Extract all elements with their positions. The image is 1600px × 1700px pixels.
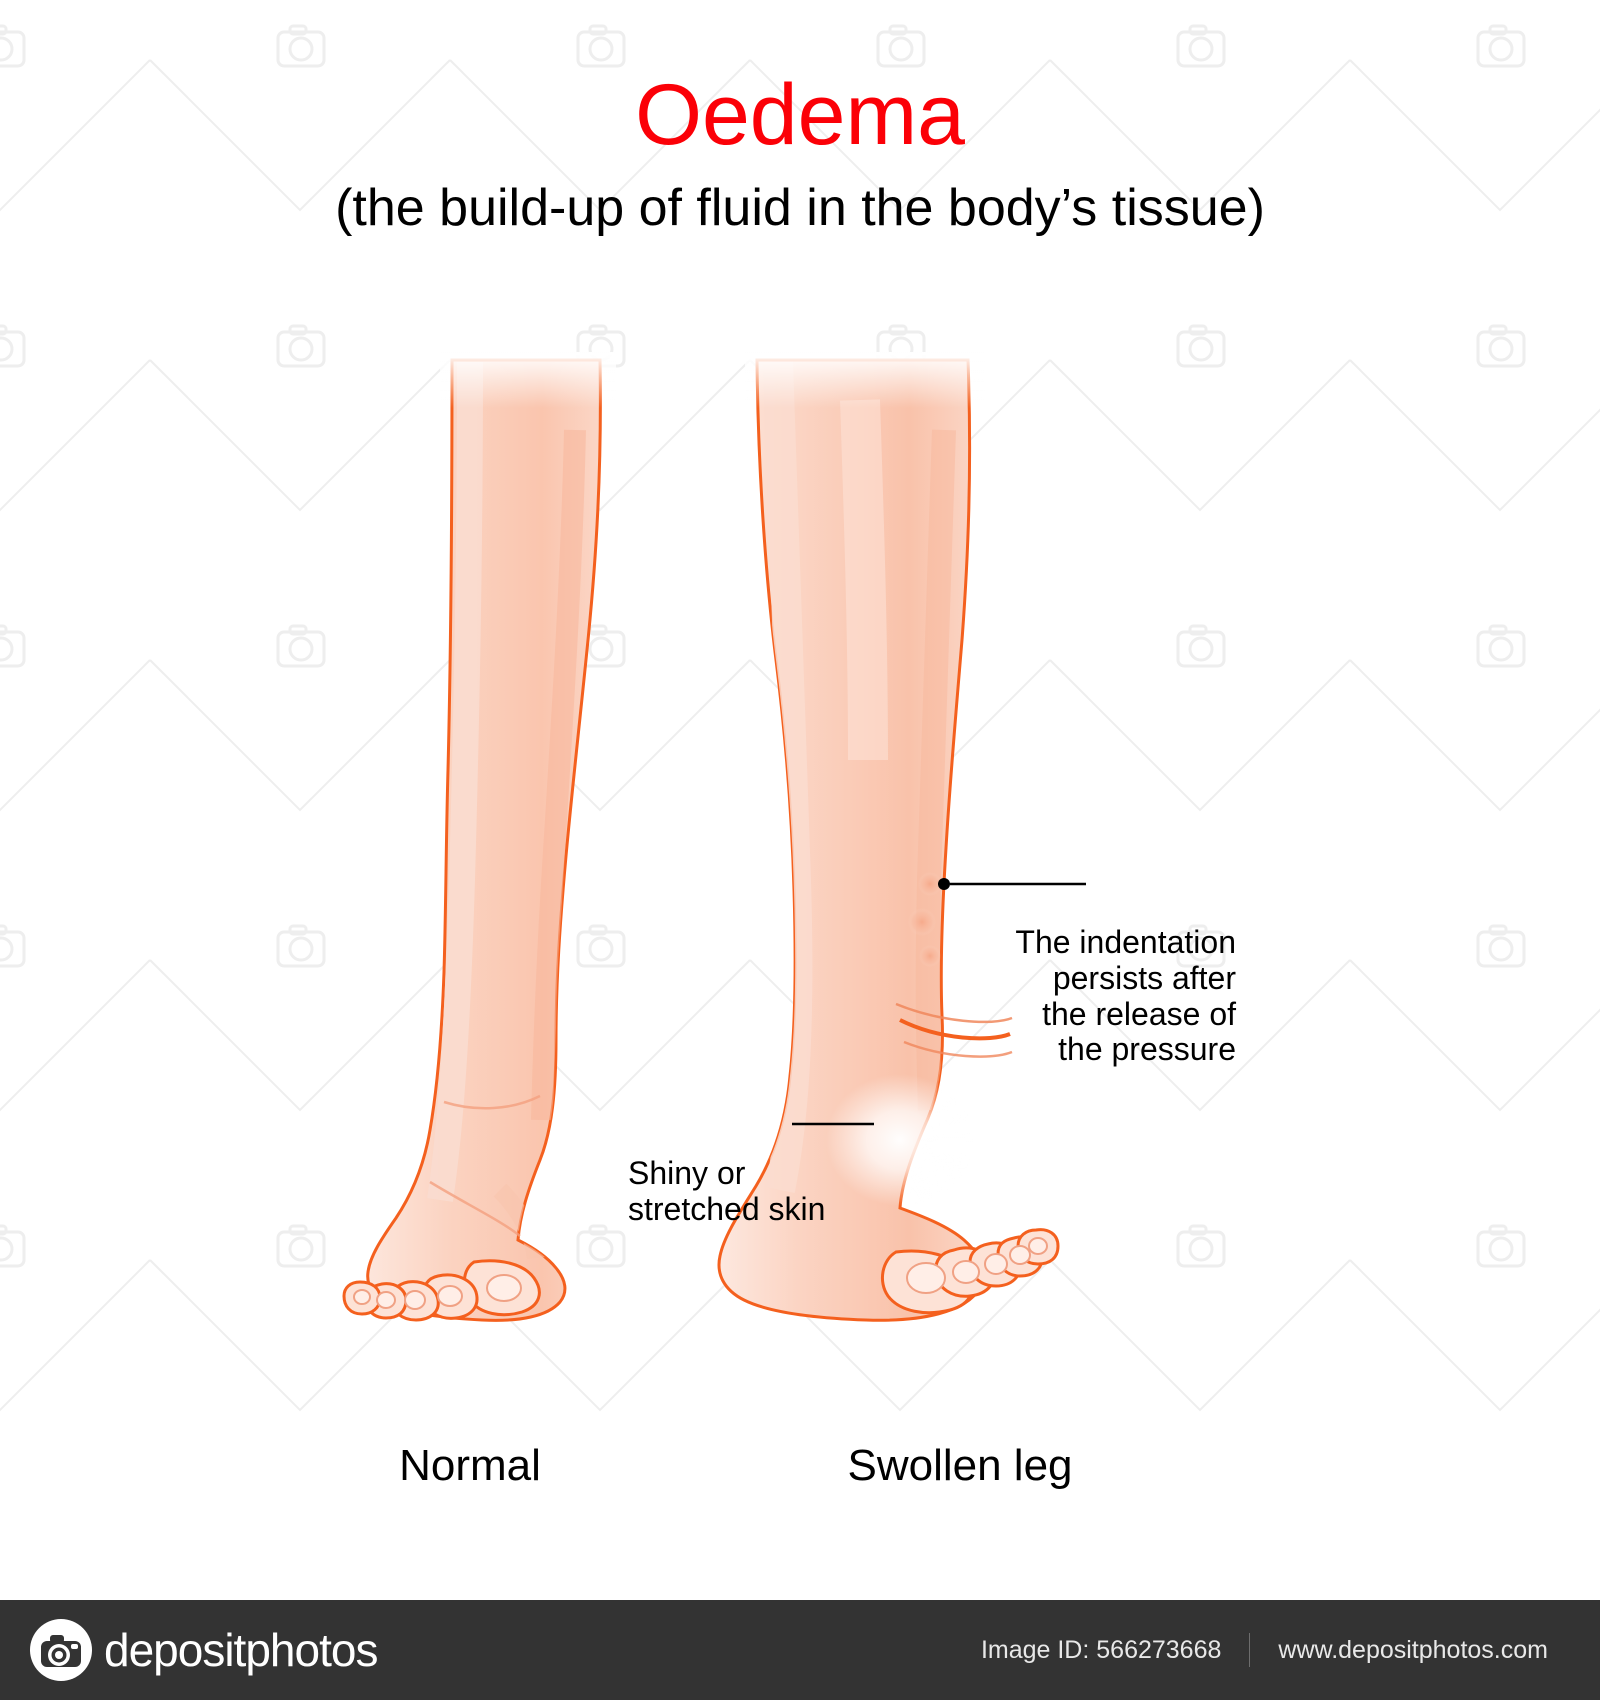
annotation-indentation: The indentation persists after the relea… <box>1000 925 1236 1068</box>
camera-icon <box>30 1619 92 1681</box>
leader-line-indentation <box>938 878 1086 890</box>
brand-wordmark: depositphotos <box>104 1627 377 1673</box>
footer-bar: depositphotos Image ID: 566273668 www.de… <box>0 1600 1600 1700</box>
website-link[interactable]: www.depositphotos.com <box>1250 1636 1576 1665</box>
normal-leg-figure <box>344 352 616 1320</box>
caption-swollen-leg: Swollen leg <box>700 1444 1220 1488</box>
depositphotos-logo[interactable]: depositphotos <box>30 1620 377 1680</box>
illustration-page: Oedema (the build-up of fluid in the bod… <box>0 0 1600 1700</box>
swollen-leg-top-fade <box>745 352 985 408</box>
footer-meta: Image ID: 566273668 www.depositphotos.co… <box>953 1600 1576 1700</box>
shiny-skin-highlight <box>826 1074 974 1206</box>
normal-leg-top-fade <box>440 352 616 408</box>
image-id-label: Image ID: 566273668 <box>953 1636 1249 1665</box>
annotation-shiny-skin: Shiny or stretched skin <box>628 1156 828 1228</box>
caption-normal-leg: Normal <box>280 1444 660 1488</box>
